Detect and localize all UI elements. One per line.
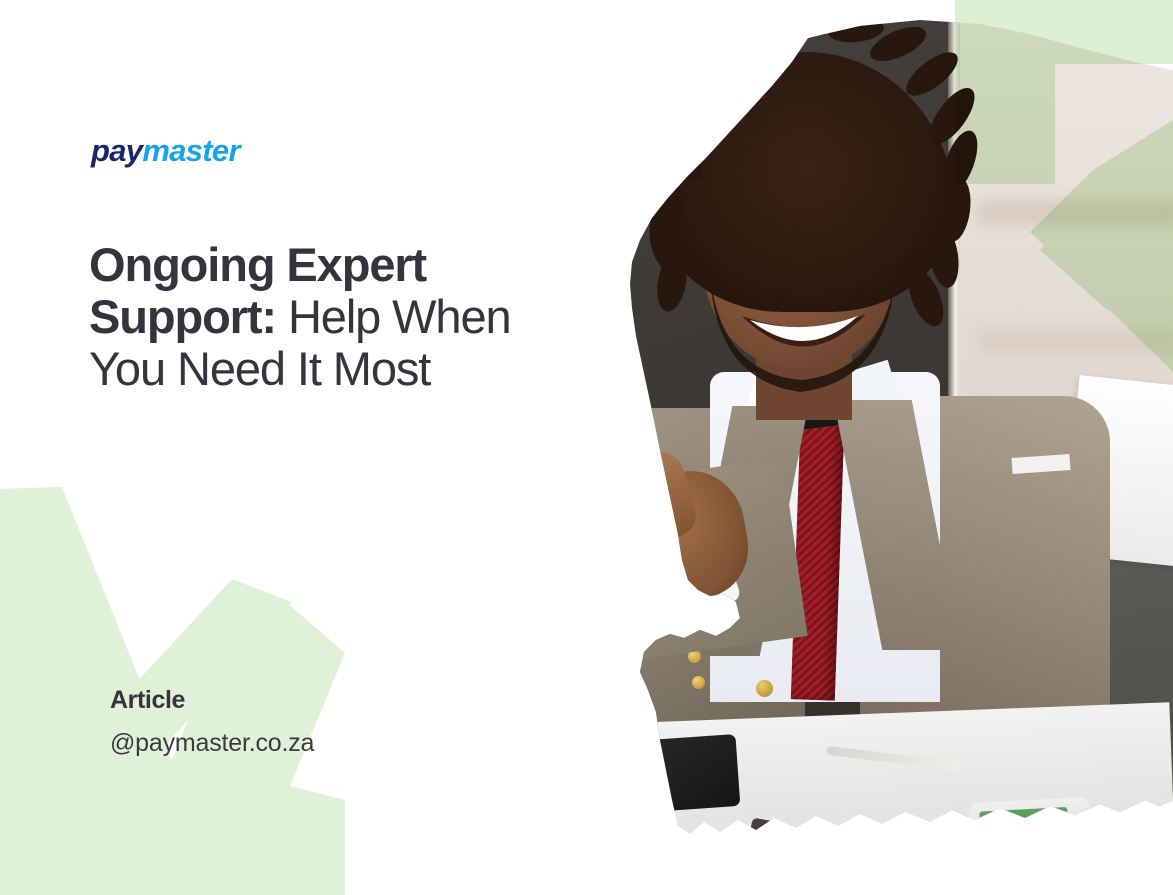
paymaster-logo: paymaster bbox=[91, 133, 240, 169]
article-cover-canvas: paymaster Ongoing Expert Support: Help W… bbox=[0, 0, 1173, 895]
photo-laptop-base bbox=[889, 816, 1130, 858]
page-title: Ongoing Expert Support: Help When You Ne… bbox=[89, 239, 519, 395]
hero-photo-torn-mask bbox=[560, 0, 1173, 895]
social-handle: @paymaster.co.za bbox=[110, 729, 314, 758]
hero-photo bbox=[560, 0, 1173, 895]
photo-smartphone bbox=[618, 734, 741, 814]
logo-text-master: master bbox=[142, 133, 239, 168]
logo-text-pay: pay bbox=[91, 133, 142, 168]
photo-eraser bbox=[740, 818, 786, 895]
photo-green-device bbox=[969, 797, 1091, 849]
content-type-label: Article bbox=[110, 686, 185, 715]
photo-pen bbox=[575, 741, 603, 797]
